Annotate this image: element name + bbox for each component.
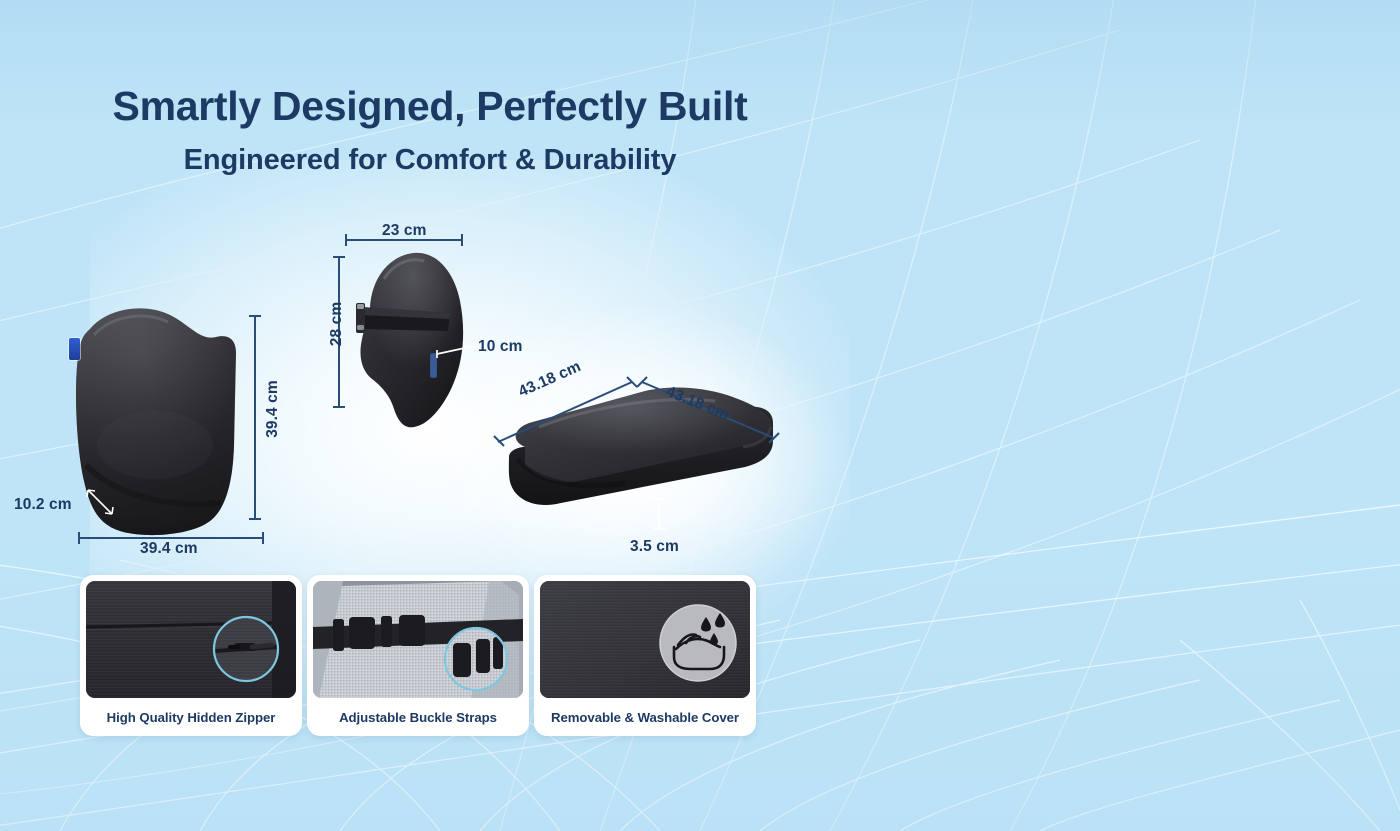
feature-cards: High Quality Hidden Zipper [80, 575, 756, 736]
page-subtitle: Engineered for Comfort & Durability [0, 144, 860, 177]
seat-left-rule [492, 376, 642, 448]
lumbar-depth-arrow [434, 340, 478, 358]
feature-label-washable: Removable & Washable Cover [540, 698, 750, 736]
washable-photo [540, 581, 750, 698]
seat-thickness-rule [658, 498, 660, 530]
lumbar-height-label: 28 cm [328, 288, 346, 360]
hand-wash-icon [540, 581, 750, 698]
promo-banner: Smartly Designed, Perfectly Built Engine… [0, 0, 1400, 831]
seat-thickness-label: 3.5 cm [630, 538, 679, 556]
brand-tag [69, 338, 80, 360]
back-height-rule [254, 315, 256, 520]
feature-label-buckle: Adjustable Buckle Straps [313, 698, 523, 736]
lumbar-width-label: 23 cm [382, 222, 426, 240]
feature-card-washable[interactable]: Removable & Washable Cover [534, 575, 756, 736]
zipper-icon [86, 581, 296, 698]
page-title: Smartly Designed, Perfectly Built [0, 84, 860, 130]
back-cushion-image [50, 295, 270, 540]
feature-card-buckle[interactable]: Adjustable Buckle Straps [307, 575, 529, 736]
lumbar-depth-label: 10 cm [478, 338, 522, 356]
back-height-label: 39.4 cm [264, 367, 282, 451]
buckle-photo [313, 581, 523, 698]
back-width-label: 39.4 cm [140, 540, 198, 558]
back-depth-arrow [84, 486, 118, 520]
feature-label-zipper: High Quality Hidden Zipper [86, 698, 296, 736]
feature-card-zipper[interactable]: High Quality Hidden Zipper [80, 575, 302, 736]
back-depth-label: 10.2 cm [14, 496, 72, 514]
zipper-photo [86, 581, 296, 698]
back-width-rule [78, 537, 264, 539]
buckle-icon [313, 581, 523, 698]
heading-block: Smartly Designed, Perfectly Built Engine… [0, 84, 860, 177]
